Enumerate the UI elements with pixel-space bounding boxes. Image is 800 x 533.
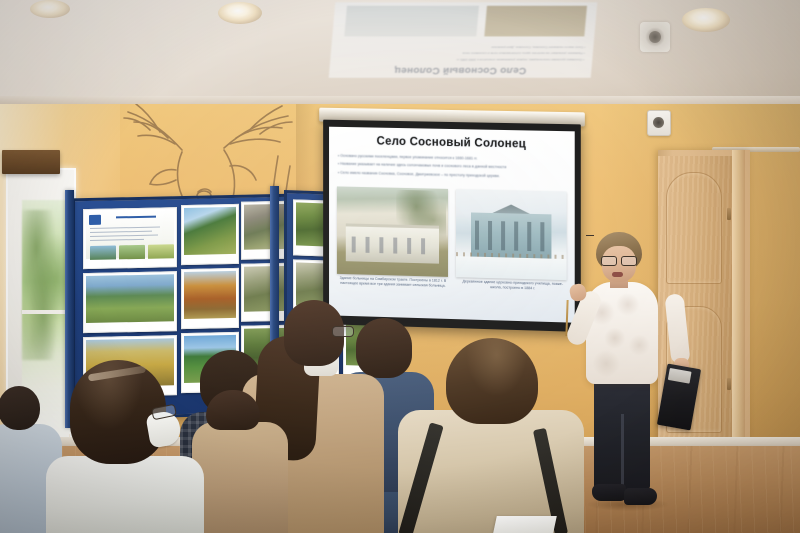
glasses-icon (601, 256, 637, 264)
slide-caption-right: Деревянное здание церковно-приходского у… (459, 279, 567, 293)
room-scene: • Основано русскими поселенцами, первое … (0, 0, 800, 533)
attendee-head (0, 386, 40, 430)
attendee-light-coat (196, 392, 284, 533)
glasses-bridge (586, 235, 594, 236)
window-valance (2, 150, 60, 174)
door-hinge-icon (727, 378, 731, 390)
slide-photo-hospital (337, 186, 448, 276)
photo-river-meadow (86, 274, 174, 323)
photo-coastal-cliff (184, 207, 236, 255)
attendee-head (446, 338, 538, 424)
photo-autumn-hills (184, 271, 236, 319)
reflection-body: • Основано русскими поселенцами, первое … (338, 43, 586, 62)
door-jamb (732, 150, 745, 445)
photo-cell[interactable] (181, 268, 239, 329)
ceiling-downlight-icon (218, 2, 262, 24)
school-building (471, 212, 551, 258)
slide-photo-school (456, 189, 567, 280)
photo-label (184, 255, 236, 263)
reflection-surface: • Основано русскими поселенцами, первое … (329, 2, 598, 78)
ceiling-speaker-icon (640, 22, 670, 52)
reflection-title: Село Сосновый Солонец (329, 65, 592, 75)
attendee-body (46, 456, 204, 533)
hospital-building (346, 223, 439, 263)
photo-lichen-rock (244, 204, 288, 250)
attendee-head (206, 390, 260, 430)
presenter (572, 232, 688, 522)
photo-label (86, 258, 174, 267)
info-sheet (86, 210, 174, 259)
ceiling-downlight-icon (30, 0, 70, 18)
window-mullion (22, 310, 70, 314)
slide-photos (337, 186, 567, 280)
door-hinge-icon (727, 208, 731, 220)
presenter-mouth (612, 272, 623, 277)
photo-label (86, 322, 174, 331)
ceiling-slide-reflection: • Основано русскими поселенцами, первое … (329, 2, 598, 78)
photo-cell[interactable] (83, 271, 177, 333)
presenter-shoe (592, 484, 626, 501)
attendee-masked-woman (42, 360, 202, 533)
photo-label (244, 250, 288, 258)
photo-cell[interactable] (181, 204, 239, 265)
attendee-beige-jacket (398, 338, 584, 533)
photo-label (184, 319, 236, 327)
presenter-arm-right (664, 293, 690, 365)
presenter-leg-split (621, 414, 624, 490)
wall-speaker-icon (647, 110, 671, 136)
reflection-line: • Название указывает на наличие здесь со… (339, 51, 585, 56)
photo-cell[interactable] (83, 207, 177, 269)
glasses-icon (332, 326, 354, 337)
presenter-shoe (624, 488, 657, 505)
reflection-photo-left (484, 6, 587, 37)
paper-on-chair (493, 516, 557, 533)
slide-caption-left: Здание больницы на Симбирском тракте. По… (337, 276, 449, 290)
reflection-photo-right (344, 6, 479, 37)
ceiling-downlight-icon (682, 8, 730, 32)
reflection-line: • Основано русскими поселенцами, первое … (338, 57, 584, 62)
slide-bullets: • Основано русскими поселенцами, первое … (338, 153, 566, 183)
reflection-photos (344, 6, 587, 37)
slide-title: Село Сосновый Солонец (329, 135, 575, 152)
slide-surface: Село Сосновый Солонец • Основано русским… (329, 127, 575, 323)
snow-ground (456, 256, 567, 280)
window-foliage (22, 210, 70, 360)
attendee-body (192, 422, 288, 533)
reflection-line: • Село имело названия Сосновка, Сосновое… (339, 44, 585, 49)
